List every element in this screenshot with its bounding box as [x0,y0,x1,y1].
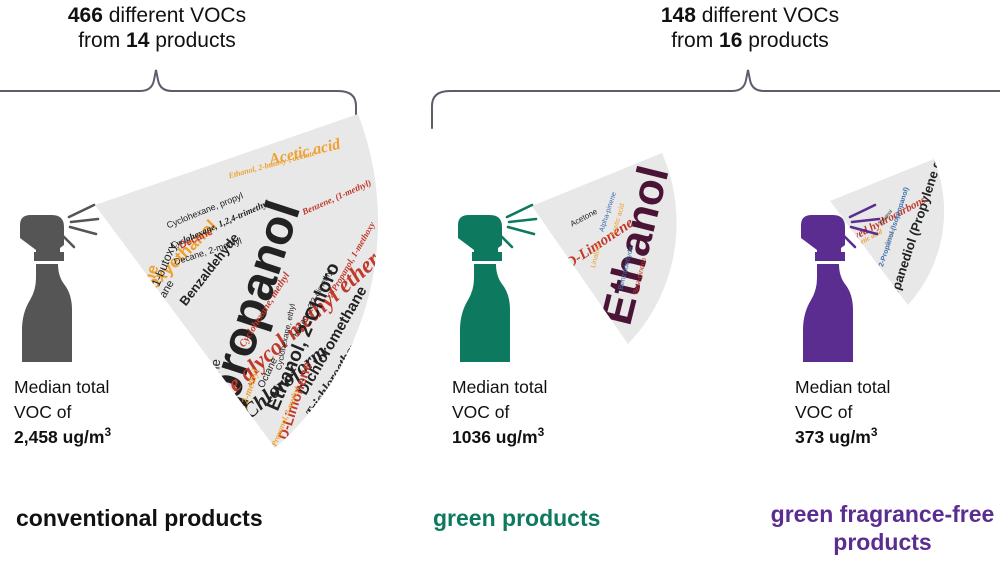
median-caption-conventional: Median total VOC of 2,458 ug/m3 [14,375,111,450]
spray-bottle-green [452,198,552,364]
bottle-collar-conventional [34,252,64,261]
bottle-trigger-green [458,215,502,258]
bottle-collar-fragrance-free [815,252,845,261]
spray-mist-green [500,205,536,247]
spray-mist-conventional [62,205,98,247]
median-line2-conventional: VOC of [14,400,111,425]
infographic-canvas: 466 different VOCs from 14 products 148 … [0,0,1000,567]
bottle-collar-green [472,252,502,261]
panel-conventional: Isopropanol Propylene glycol methyl ethe… [0,0,430,567]
median-caption-fragrance-free: Median total VOC of 373 ug/m3 [795,375,890,450]
cloud-word-hexanal: Hexanal [322,406,345,436]
category-label-text-fragrance-free-line2: products [765,528,1000,556]
wordcloud-fan-green: Ethanol D-Limonene Acetone Alpha-pinene … [530,148,720,348]
panel-green-fragrance-free: 1,2-Propanediol (Propylene glycol) Unres… [770,0,1000,567]
median-value-conventional: 2,458 ug/m3 [14,425,111,450]
median-exponent-conventional: 3 [104,425,111,439]
median-value-text-conventional: 2,458 ug/m [14,427,104,447]
median-caption-green: Median total VOC of 1036 ug/m3 [452,375,547,450]
panel-green: Ethanol D-Limonene Acetone Alpha-pinene … [430,0,770,567]
category-label-green: green products [433,504,600,532]
bottle-trigger-fragrance-free [801,215,845,258]
spray-bottle-fragrance-free [795,198,895,364]
category-label-conventional: conventional products [16,504,263,532]
cloud-word-octane-3-methyl: Octane, 3-methyl [114,339,171,365]
median-exponent-fragrance-free: 3 [871,425,878,439]
median-line1-fragrance-free: Median total [795,375,890,400]
bottle-body-conventional [22,264,72,362]
median-value-fragrance-free: 373 ug/m3 [795,425,890,450]
bottle-body-fragrance-free [803,264,853,362]
category-label-text-conventional: conventional products [16,505,263,531]
bottle-body-green [460,264,510,362]
spray-bottle-conventional [14,198,114,364]
category-label-text-green: green products [433,505,600,531]
cloud-word-acetone: Acetone [205,359,223,408]
median-value-green: 1036 ug/m3 [452,425,547,450]
median-line2-fragrance-free: VOC of [795,400,890,425]
median-value-text-fragrance-free: 373 ug/m [795,427,871,447]
spray-mist-fragrance-free [843,205,879,247]
median-line2-green: VOC of [452,400,547,425]
median-exponent-green: 3 [538,425,545,439]
category-label-fragrance-free: green fragrance-free products [765,500,1000,556]
category-label-text-fragrance-free-line1: green fragrance-free [765,500,1000,528]
bottle-trigger-conventional [20,215,64,258]
wordcloud-fan-conventional: Isopropanol Propylene glycol methyl ethe… [90,105,400,455]
median-line1-green: Median total [452,375,547,400]
median-value-text-green: 1036 ug/m [452,427,538,447]
median-line1-conventional: Median total [14,375,111,400]
